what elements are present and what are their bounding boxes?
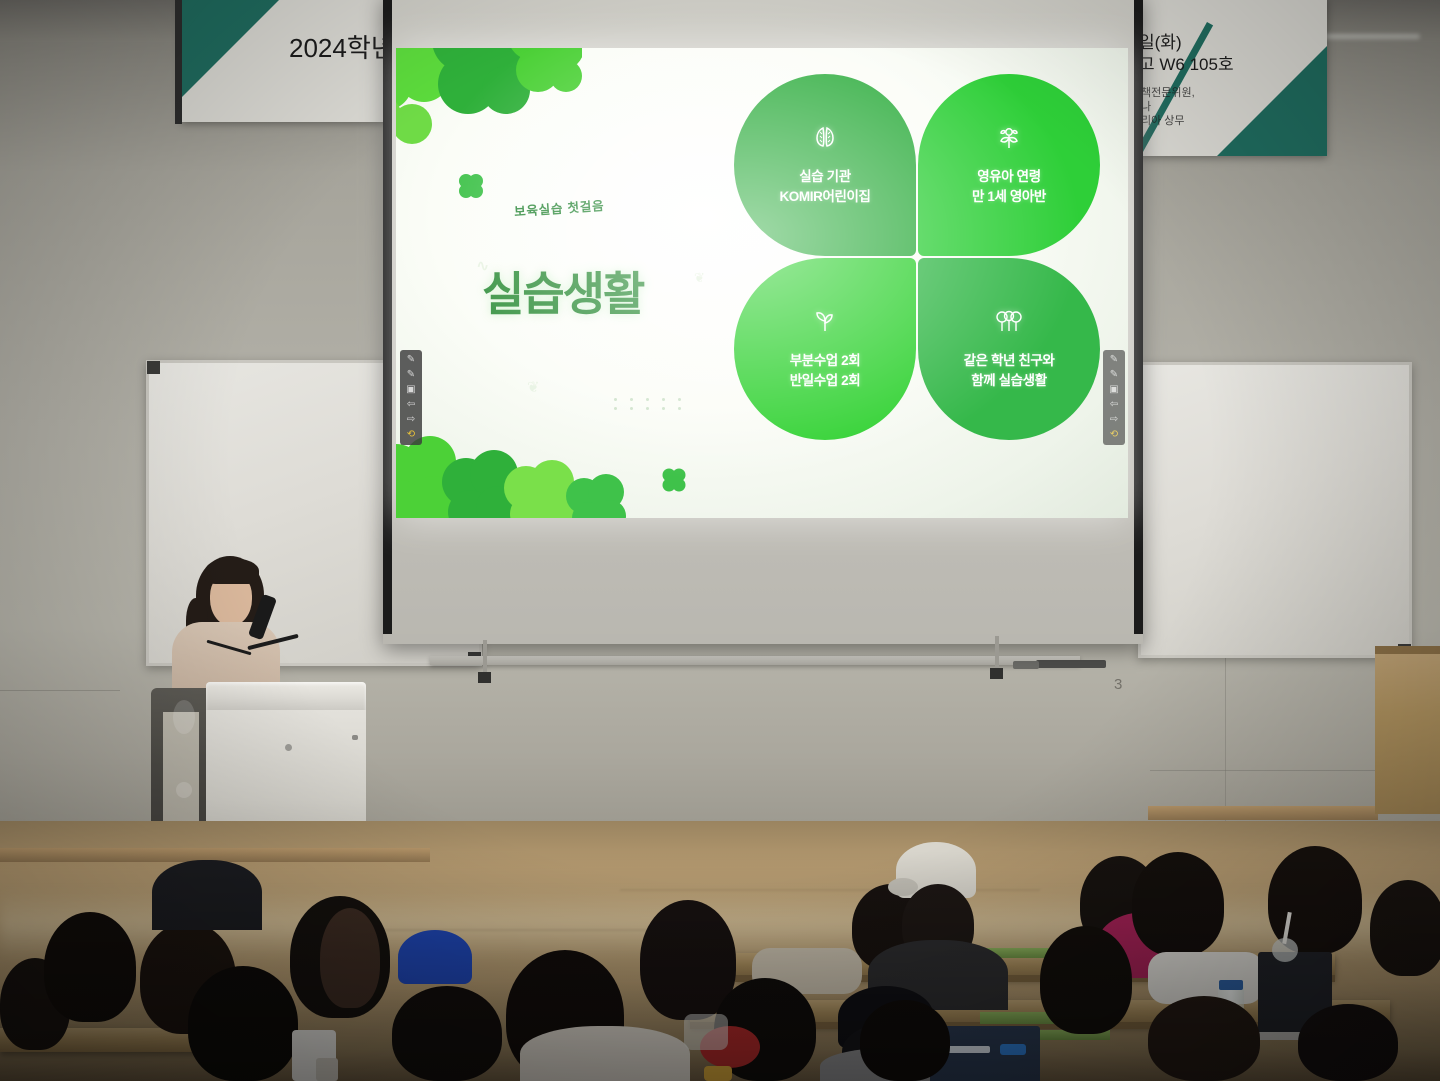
slide-content: ✕ ∿ ❦ ❦ 보육실습 첫걸음 실습생활 [396, 48, 1128, 518]
screen-left-edge [383, 0, 392, 644]
petal-bottom-right: 같은 학년 친구와 함께 실습생활 [918, 258, 1100, 440]
highlighter-icon[interactable]: ✎ [407, 370, 415, 380]
banner-rod-left [175, 0, 182, 124]
wall-seam-3 [0, 690, 120, 691]
podium-knob-2 [176, 782, 192, 798]
clover-small-left [456, 171, 486, 206]
laser-pointer-icon-mirror[interactable]: ⟲ [1110, 430, 1118, 440]
presenter-hair-front [205, 558, 259, 584]
audience-logo-patch [316, 1058, 338, 1081]
sparkle-x-icon: ✕ [626, 144, 644, 170]
laptop-ui-accent [1000, 1044, 1026, 1055]
whiteboard-eraser [1013, 661, 1039, 669]
next-arrow-icon[interactable]: ⇨ [407, 415, 415, 425]
slide-icon[interactable]: ▣ [406, 385, 415, 395]
slide-icon-mirror[interactable]: ▣ [1109, 385, 1118, 395]
banner-teal-triangle-right [1217, 26, 1327, 156]
event-banner-left: 2024학년 [181, 0, 393, 122]
three-trees-icon [994, 307, 1024, 342]
whiteboard-marker-tray [430, 656, 1080, 665]
audience-blue-cap[interactable] [398, 930, 472, 984]
wall-seam-2 [1150, 770, 1390, 771]
sprout-flower-icon [994, 123, 1024, 158]
podium-knob [173, 700, 195, 734]
presenter-toolbar-mirror[interactable]: ✎ ✎ ▣ ⇦ ⇨ ⟲ [1103, 350, 1125, 445]
audience-head-12 [44, 912, 136, 1022]
banner-left-text: 2024학년 [289, 28, 393, 65]
audience-backpack [152, 860, 262, 930]
presenter-toolbar[interactable]: ✎ ✎ ▣ ⇦ ⇨ ⟲ [400, 350, 422, 445]
screen-bottom-bar [383, 634, 1143, 644]
petal-bottom-right-line-2: 함께 실습생활 [971, 371, 1046, 391]
prev-arrow-icon[interactable]: ⇦ [407, 400, 415, 410]
water-bottle-cap [1219, 980, 1243, 990]
banner-right-line-5: 리아 상무 [1141, 112, 1185, 128]
slide-kicker-text: 보육실습 첫걸음 [513, 195, 604, 220]
whiteboard-marker [1036, 660, 1106, 668]
petal-top-left-line-1: 실습 기관 [799, 167, 850, 187]
audience-head-16 [320, 908, 380, 1008]
laser-pointer-icon[interactable]: ⟲ [407, 430, 415, 440]
wooden-wall-panel [1375, 646, 1440, 814]
audience-head-17 [392, 986, 502, 1081]
audience-head-15 [188, 966, 298, 1081]
petal-bottom-right-line-1: 같은 학년 친구와 [964, 351, 1055, 371]
petal-top-right: 영유아 연령 만 1세 영아반 [918, 74, 1100, 256]
wall-number-marking: 3 [1114, 676, 1122, 693]
seedling-icon [810, 307, 840, 342]
wooden-wall-panel-cap [1375, 646, 1440, 654]
projection-screen: ✕ ∿ ❦ ❦ 보육실습 첫걸음 실습생활 [383, 0, 1143, 644]
leaf-speck-icon-2: ❦ [694, 270, 705, 286]
whiteboard-corner [147, 361, 160, 374]
floor-grain-2 [620, 889, 1041, 891]
next-arrow-icon-mirror[interactable]: ⇨ [1110, 415, 1118, 425]
petal-bottom-left: 부분수업 2회 반일수업 2회 [734, 258, 916, 440]
audience-head-8 [1148, 996, 1260, 1081]
audience-head-6 [1370, 880, 1440, 976]
banner-right-line-2: 고 W6 105호 [1139, 50, 1234, 75]
petal-top-left: 실습 기관 KOMIR어린이집 [734, 74, 916, 256]
audience-item-plastic [684, 1014, 728, 1050]
pen-icon[interactable]: ✎ [407, 355, 415, 365]
screen-foot-left [478, 672, 491, 683]
podium-button[interactable] [285, 744, 292, 751]
petal-top-right-line-1: 영유아 연령 [977, 167, 1040, 187]
audience-shoulder-cream [520, 1026, 690, 1081]
pen-icon-mirror[interactable]: ✎ [1110, 355, 1118, 365]
screen-foot-right [990, 668, 1003, 679]
clover-small-bottom [660, 466, 688, 499]
podium-indicator [352, 735, 358, 740]
two-leaves-icon [810, 123, 840, 158]
highlighter-icon-mirror[interactable]: ✎ [1110, 370, 1118, 380]
prev-arrow-icon-mirror[interactable]: ⇦ [1110, 400, 1118, 410]
banner-teal-triangle [181, 0, 291, 122]
dot-grid-decoration [614, 398, 687, 410]
slide-title: 실습생활 [482, 258, 643, 324]
leaf-speck-icon: ❦ [527, 378, 540, 396]
wall-baseboard-2 [1148, 806, 1378, 820]
clover-cluster-bottom-left [396, 430, 656, 518]
petal-top-left-line-2: KOMIR어린이집 [779, 187, 870, 207]
audience-head-21 [860, 1000, 950, 1081]
petal-top-right-line-2: 만 1세 영아반 [972, 187, 1046, 207]
audience-head-9 [1298, 1004, 1398, 1081]
audience-head-4 [1132, 852, 1224, 956]
clover-cluster-top-left [396, 48, 582, 168]
podium-top-surface [206, 682, 366, 712]
event-banner-right: 일(화) 고 W6 105호 책전문위원, 나 리아 상무 [1131, 0, 1327, 156]
petal-bottom-left-line-2: 반일수업 2회 [790, 371, 861, 391]
audience-item-yellow [704, 1066, 732, 1081]
photo-scene: 3 2024학년 일(화) 고 W6 105호 책전문위원, 나 리아 상무 [0, 0, 1440, 1081]
audience-head-7 [1040, 926, 1132, 1034]
screen-support-leg-left [483, 640, 487, 675]
petal-bottom-left-line-1: 부분수업 2회 [790, 351, 861, 371]
whiteboard-right [1138, 362, 1412, 658]
screen-right-edge [1134, 0, 1143, 644]
slide-kicker: 보육실습 첫걸음 [513, 195, 604, 220]
screen-support-leg-right [995, 636, 999, 671]
